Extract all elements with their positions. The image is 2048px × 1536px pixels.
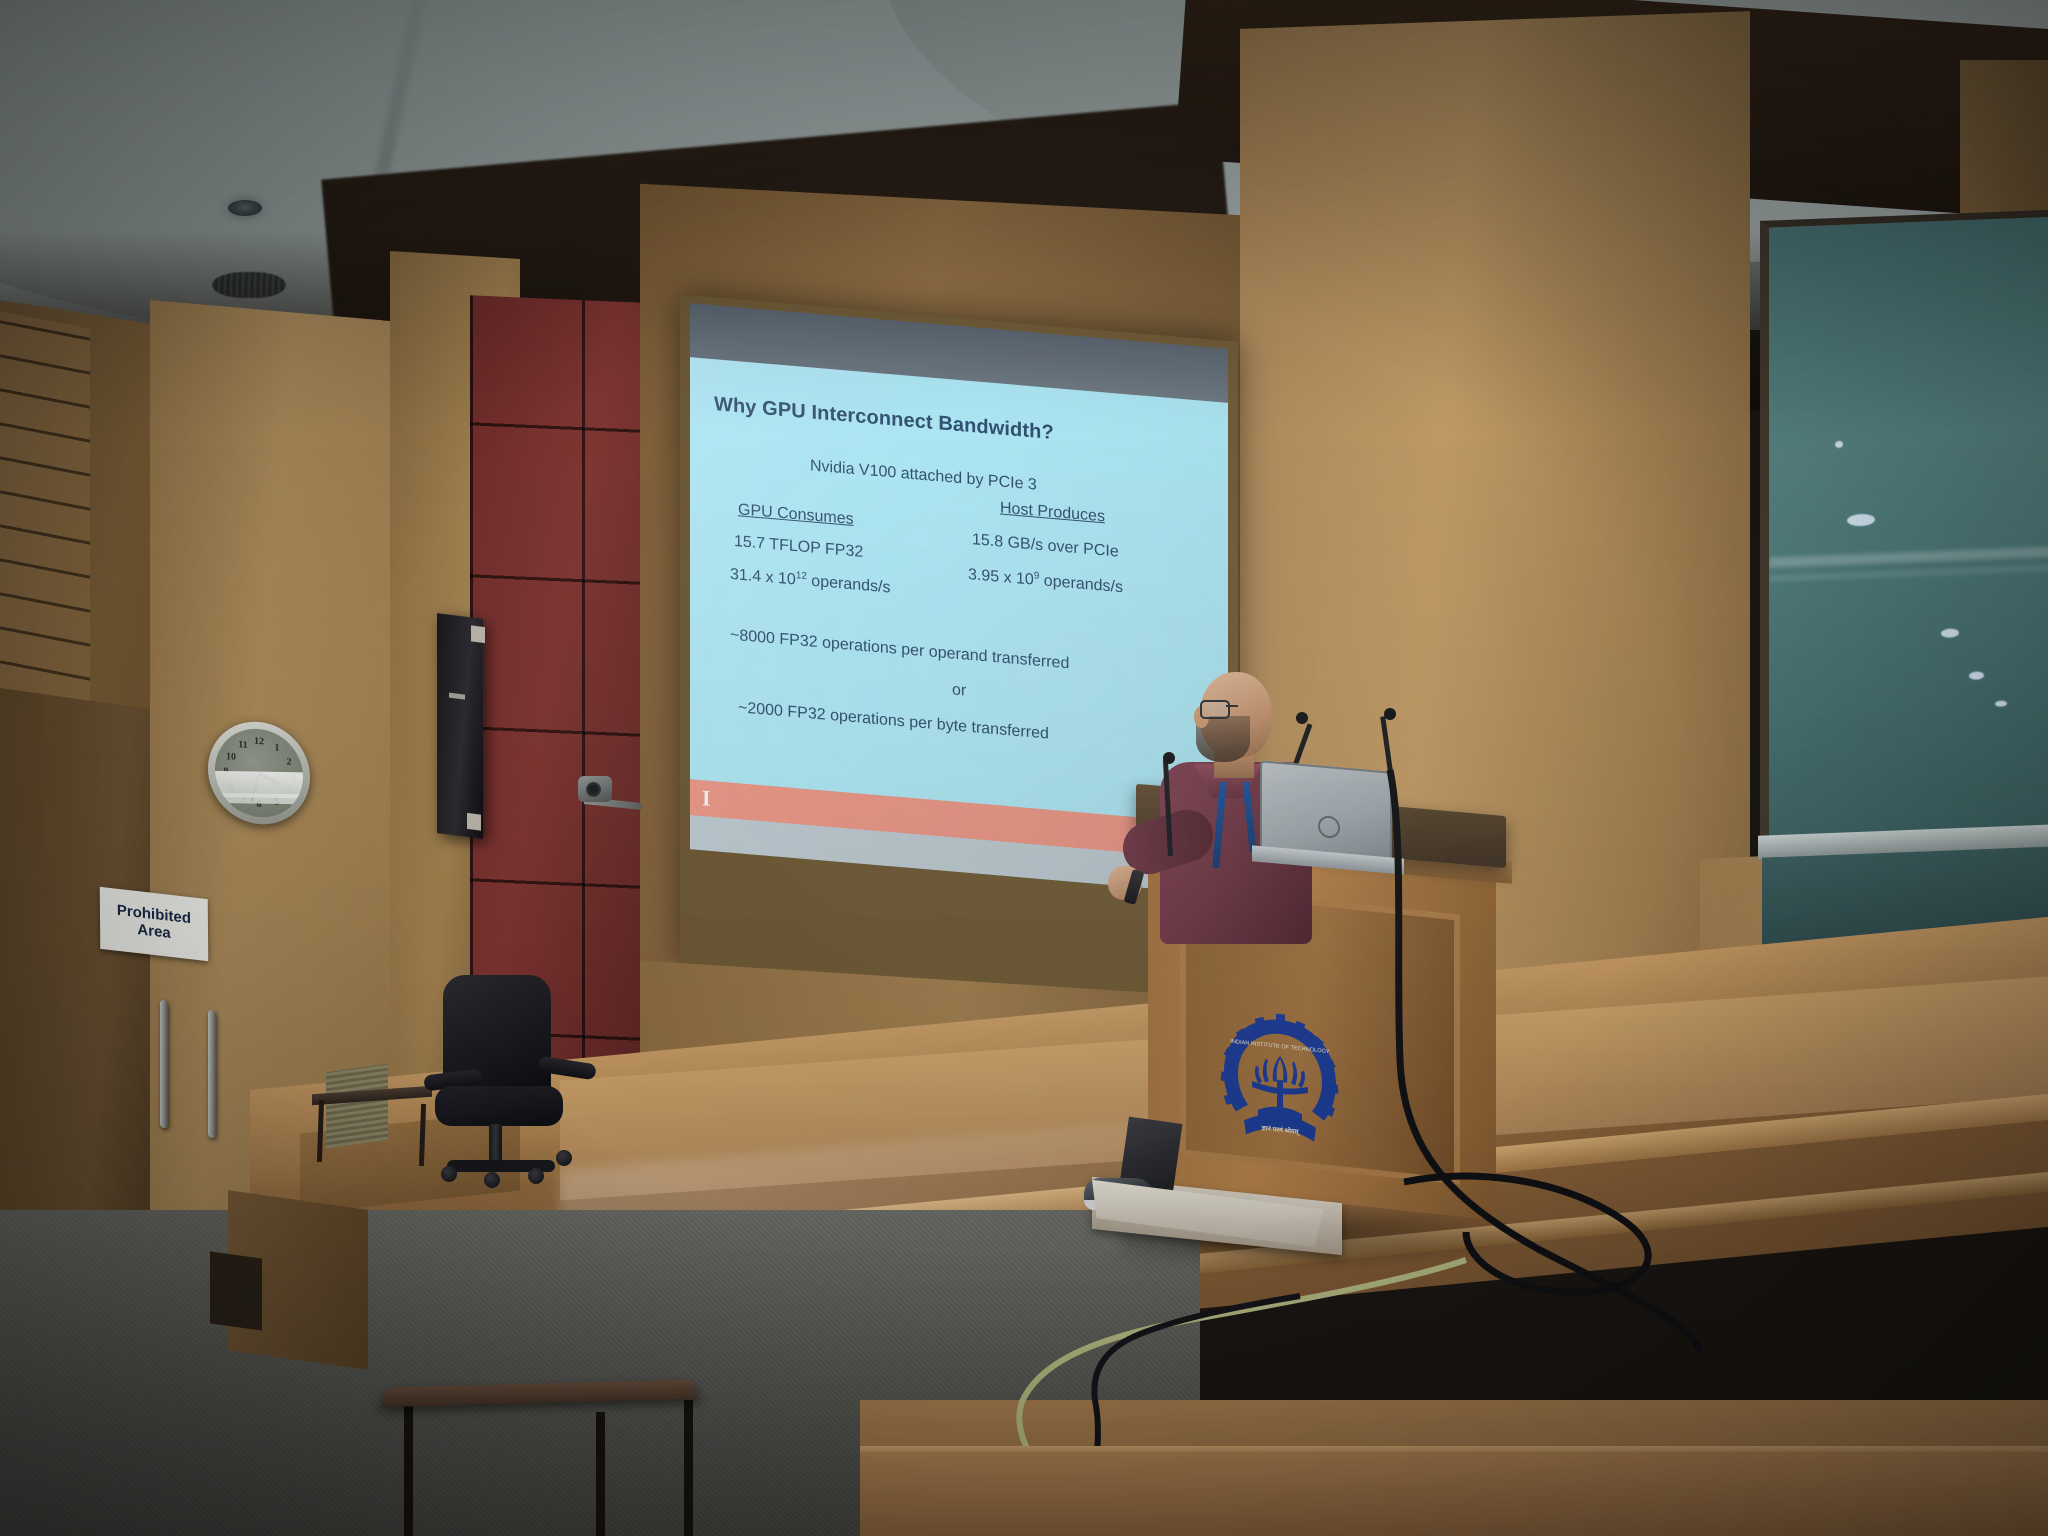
clock-numeral: 11 — [237, 739, 249, 751]
slide-column-heading-gpu: GPU Consumes — [738, 501, 854, 529]
microphone-head-icon — [1163, 752, 1175, 764]
column-speaker — [437, 613, 483, 839]
speaker-bracket — [467, 813, 481, 831]
table-mat — [326, 1064, 388, 1149]
chair-caster — [441, 1166, 457, 1182]
slide-host-line-2-base: 3.95 x 10 — [968, 566, 1034, 589]
eyeglasses-bridge — [1226, 705, 1238, 707]
slide-host-line-2: 3.95 x 109 operands/s — [968, 565, 1123, 597]
camera-lens-icon — [586, 782, 601, 797]
clock-glass-glare — [215, 793, 303, 805]
door-handle[interactable] — [160, 999, 168, 1128]
light-reflection — [1969, 671, 1984, 680]
slide-conclusion-line-1: ~8000 FP32 operations per operand transf… — [730, 627, 1069, 674]
slide-subtitle: Nvidia V100 attached by PCIe 3 — [810, 457, 1037, 494]
eyeglasses-icon — [1200, 700, 1230, 719]
slide-gpu-line-2-base: 31.4 x 10 — [730, 566, 796, 589]
plinth-recess — [210, 1251, 262, 1330]
foreground-bench — [860, 1452, 2048, 1536]
slide-conclusion-line-2: ~2000 FP32 operations per byte transferr… — [738, 699, 1049, 743]
chair-caster — [528, 1168, 544, 1184]
office-chair-seat — [435, 1086, 563, 1126]
foreground-table-leg — [596, 1412, 605, 1536]
foreground-table-leg — [684, 1400, 693, 1536]
lecture-hall-photo: 12 1 2 3 4 5 6 7 8 9 10 11 Prohibited Ar… — [0, 0, 2048, 1536]
light-reflection — [1941, 628, 1959, 638]
chair-caster — [484, 1172, 500, 1188]
light-reflection — [1847, 514, 1875, 527]
light-reflection — [1835, 441, 1843, 448]
clock-numeral: 12 — [253, 735, 265, 747]
iit-bombay-logo: ज्ञानं परमं ध्येयम् INDIAN INSTITUTE OF … — [1216, 1005, 1344, 1150]
slide-host-line-1: 15.8 GB/s over PCIe — [972, 531, 1119, 561]
glass-window — [1760, 209, 2048, 858]
slide-gpu-line-2-exponent: 12 — [796, 570, 807, 582]
wall-left-block-pattern — [0, 311, 90, 748]
speaker-logo — [449, 693, 465, 700]
clock-numeral: 2 — [283, 756, 295, 768]
chair-caster — [556, 1150, 572, 1166]
sign-line-2: Area — [137, 922, 171, 943]
slide-host-line-2-tail: operands/s — [1039, 572, 1123, 596]
wall-left-lower-panel — [0, 688, 170, 1272]
microphone-head-icon — [1296, 712, 1308, 724]
slide-gpu-line-2: 31.4 x 1012 operands/s — [730, 565, 890, 598]
microphone-head-icon — [1384, 708, 1396, 720]
clock-numeral: 1 — [271, 742, 283, 754]
light-reflection — [1995, 700, 2007, 706]
illinois-i-logo: I — [702, 787, 711, 810]
foreground-table-leg — [404, 1398, 413, 1536]
slide-conclusion-connector: or — [952, 681, 966, 700]
clock-numeral: 10 — [225, 751, 237, 763]
speaker-bracket — [471, 625, 485, 643]
slide-title: Why GPU Interconnect Bandwidth? — [714, 393, 1054, 445]
clock-face: 12 1 2 3 4 5 6 7 8 9 10 11 — [215, 725, 303, 821]
slide-gpu-line-1: 15.7 TFLOP FP32 — [734, 533, 863, 562]
prohibited-area-sign: Prohibited Area — [100, 887, 209, 961]
ceiling-downlight-icon — [228, 200, 262, 216]
door-handle[interactable] — [208, 1009, 216, 1138]
slide-column-heading-host: Host Produces — [1000, 499, 1105, 526]
slide-gpu-line-2-tail: operands/s — [807, 572, 891, 596]
